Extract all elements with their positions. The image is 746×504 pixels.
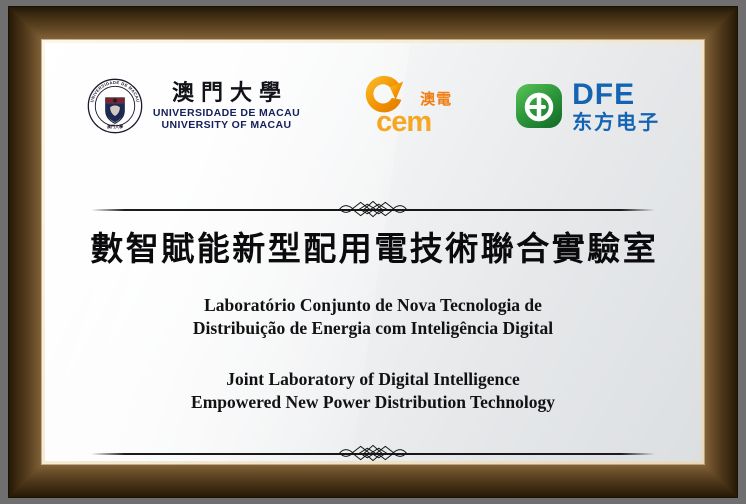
cem-chinese-name: 澳電: [420, 92, 452, 107]
divider-top: [91, 197, 655, 221]
university-portuguese-name: UNIVERSIDADE DE MACAU: [153, 108, 300, 119]
knot-ornament-top-icon: [335, 198, 411, 220]
frame-bevel-top: [9, 7, 737, 41]
university-crest-icon: UNIVERSIDADE DE MACAU 澳門大學: [86, 77, 144, 135]
dfe-mark-icon: [514, 81, 564, 131]
university-name-block: 澳門大學 UNIVERSIDADE DE MACAU UNIVERSITY OF…: [153, 82, 300, 131]
university-of-macau-logo: UNIVERSIDADE DE MACAU 澳門大學: [86, 77, 300, 135]
logo-row: UNIVERSIDADE DE MACAU 澳門大學: [45, 65, 701, 147]
dfe-name-block: DFE 东方电子: [572, 80, 660, 133]
knot-ornament-bottom-icon: [335, 442, 411, 461]
plaque-photo: UNIVERSIDADE DE MACAU 澳門大學: [0, 0, 746, 504]
svg-text:澳門大學: 澳門大學: [107, 123, 123, 129]
title-block: 數智賦能新型配用電技術聯合實驗室 Laboratório Conjunto de…: [45, 231, 701, 414]
plaque-frame: UNIVERSIDADE DE MACAU 澳門大學: [8, 6, 738, 498]
plaque-panel: UNIVERSIDADE DE MACAU 澳門大學: [45, 43, 701, 461]
frame-bevel-right: [703, 7, 737, 497]
cem-wordmark: cem: [376, 108, 431, 137]
lab-title-english: Joint Laboratory of Digital Intelligence…: [45, 368, 701, 414]
divider-bottom: [91, 441, 655, 461]
inner-gold-bevel: UNIVERSIDADE DE MACAU 澳門大學: [41, 39, 705, 465]
lab-title-portuguese-line2: Distribuição de Energia com Inteligência…: [45, 317, 701, 340]
university-chinese-name: 澳門大學: [165, 82, 288, 104]
lab-title-chinese: 數智賦能新型配用電技術聯合實驗室: [45, 231, 701, 270]
cem-logo: 澳電 cem: [358, 70, 456, 142]
frame-bevel-left: [9, 7, 43, 497]
lab-title-portuguese-line1: Laboratório Conjunto de Nova Tecnologia …: [45, 294, 701, 317]
dfe-abbreviation: DFE: [572, 80, 660, 110]
lab-title-english-line2: Empowered New Power Distribution Technol…: [45, 391, 701, 414]
frame-bevel-bottom: [9, 463, 737, 497]
lab-title-english-line1: Joint Laboratory of Digital Intelligence: [45, 368, 701, 391]
dfe-logo: DFE 东方电子: [514, 80, 660, 133]
university-english-name: UNIVERSITY OF MACAU: [162, 120, 292, 131]
dfe-chinese-name: 东方电子: [572, 113, 660, 133]
lab-title-portuguese: Laboratório Conjunto de Nova Tecnologia …: [45, 294, 701, 340]
